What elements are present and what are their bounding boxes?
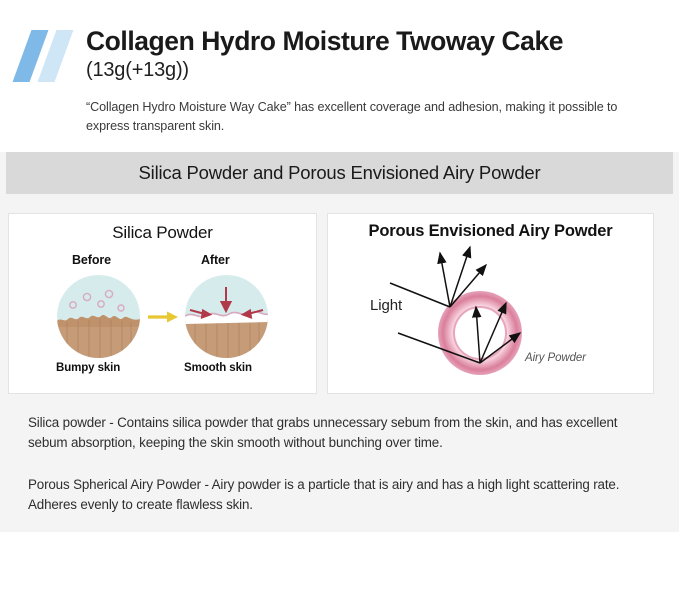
smooth-skin-svg xyxy=(185,275,268,358)
product-header: Collagen Hydro Moisture Twoway Cake (13g… xyxy=(0,0,679,152)
before-skin-illustration xyxy=(57,275,140,358)
after-label: After xyxy=(201,253,230,267)
diagram-panels: Silica Powder Before After xyxy=(0,194,679,394)
product-volume: (13g(+13g)) xyxy=(86,58,655,83)
light-scattering-rays xyxy=(328,241,655,387)
silica-panel-title: Silica Powder xyxy=(9,214,316,243)
silica-diagram: Before After xyxy=(9,243,316,383)
airy-powder-label: Airy Powder xyxy=(525,352,586,364)
double-slash-logo-icon xyxy=(14,30,76,82)
feature-section: Silica Powder and Porous Envisioned Airy… xyxy=(0,152,679,532)
right-arrow-icon xyxy=(147,310,179,324)
product-description: “Collagen Hydro Moisture Way Cake” has e… xyxy=(86,98,655,136)
silica-paragraph: Silica powder - Contains silica powder t… xyxy=(28,413,655,454)
airy-panel-title: Porous Envisioned Airy Powder xyxy=(328,214,653,241)
product-title: Collagen Hydro Moisture Twoway Cake xyxy=(86,26,655,56)
after-skin-illustration xyxy=(185,275,268,358)
airy-paragraph: Porous Spherical Airy Powder - Airy powd… xyxy=(28,475,655,516)
airy-diagram: Light xyxy=(328,241,653,387)
airy-powder-panel: Porous Envisioned Airy Powder Light xyxy=(327,213,654,394)
bumpy-skin-svg xyxy=(57,275,140,358)
section-title: Silica Powder and Porous Envisioned Airy… xyxy=(139,162,541,184)
footer-spacer xyxy=(0,532,679,565)
before-caption: Bumpy skin xyxy=(56,362,120,374)
section-header-bar: Silica Powder and Porous Envisioned Airy… xyxy=(6,152,673,194)
after-caption: Smooth skin xyxy=(184,362,252,374)
description-body: Silica powder - Contains silica powder t… xyxy=(0,394,679,516)
silica-powder-panel: Silica Powder Before After xyxy=(8,213,317,394)
before-label: Before xyxy=(72,253,111,267)
